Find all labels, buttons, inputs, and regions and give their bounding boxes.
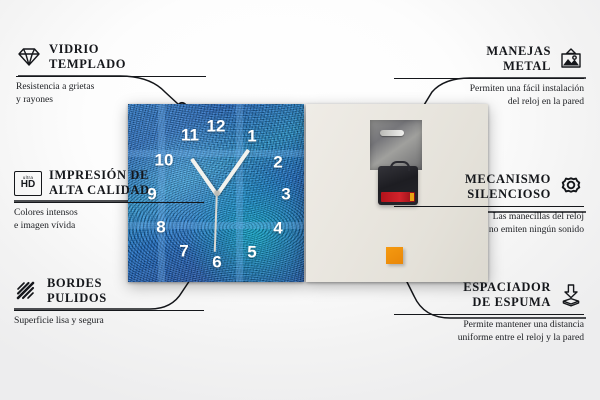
clock-numeral-7: 7 (179, 243, 188, 260)
picture-hanger-icon (558, 47, 584, 71)
callout-title-line2: DE ESPUMA (463, 295, 551, 310)
callout-rule (394, 206, 584, 207)
clock-numeral-10: 10 (155, 152, 174, 169)
clock-numeral-5: 5 (247, 244, 256, 261)
diagonal-lines-icon (14, 279, 40, 303)
callout-espaciador-de-espuma: ESPACIADOR DE ESPUMA Permite mantener un… (394, 280, 584, 344)
callout-title-line2: ALTA CALIDAD (49, 183, 150, 198)
callout-title-line1: ESPACIADOR (463, 280, 551, 295)
callout-desc-line2: e imagen vívida (14, 220, 204, 233)
callout-desc-line2: uniforme entre el reloj y la pared (394, 332, 584, 345)
diamond-icon (16, 45, 42, 69)
callout-title-line1: MANEJAS (486, 44, 551, 59)
callout-mecanismo-silencioso: MECANISMO SILENCIOSO Las manecillas del … (394, 172, 584, 236)
infographic-canvas: 12 1 2 3 4 5 6 7 8 9 10 11 (0, 0, 600, 400)
callout-bordes-pulidos: BORDES PULIDOS Superficie lisa y segura (14, 276, 204, 328)
callout-desc-line2: y rayones (16, 94, 206, 107)
gear-icon (558, 175, 584, 199)
callout-impresion-alta-calidad: ultra HD IMPRESIÓN DE ALTA CALIDAD Color… (14, 168, 204, 232)
grid-line (236, 104, 243, 282)
callout-vidrio-templado: VIDRIO TEMPLADO Resistencia a grietas y … (16, 42, 206, 106)
callout-title-line1: IMPRESIÓN DE (49, 168, 150, 183)
clock-numeral-11: 11 (181, 127, 199, 144)
clock-numeral-6: 6 (212, 254, 221, 271)
ultra-hd-icon: ultra HD (14, 171, 42, 196)
callout-rule (394, 314, 584, 315)
callout-rule (394, 78, 584, 79)
ultra-hd-icon-large-text: HD (21, 180, 35, 191)
clock-numeral-3: 3 (281, 186, 290, 203)
callout-title-line2: TEMPLADO (49, 57, 126, 72)
callout-title-line2: PULIDOS (47, 291, 107, 306)
down-arrow-pad-icon (558, 283, 584, 307)
callout-desc-line1: Permite mantener una distancia (394, 319, 584, 332)
foam-spacer (386, 247, 403, 264)
callout-title-line1: VIDRIO (49, 42, 126, 57)
callout-title-line1: BORDES (47, 276, 107, 291)
callout-manejas-metal: MANEJAS METAL Permiten una fácil instala… (394, 44, 584, 108)
callout-rule (16, 76, 206, 77)
callout-desc-line1: Las manecillas del reloj (394, 211, 584, 224)
clock-center-pivot (215, 191, 220, 196)
clock-numeral-1: 1 (247, 128, 256, 145)
clock-numeral-12: 12 (207, 118, 226, 135)
hanger-slot (380, 130, 404, 136)
callout-desc-line1: Superficie lisa y segura (14, 315, 204, 328)
clock-numeral-4: 4 (273, 220, 282, 237)
callout-title-line2: METAL (486, 59, 551, 74)
callout-desc-line2: del reloj en la pared (394, 96, 584, 109)
callout-desc-line1: Resistencia a grietas (16, 81, 206, 94)
callout-rule (14, 202, 204, 203)
clock-numeral-2: 2 (273, 154, 282, 171)
callout-desc-line1: Permiten una fácil instalación (394, 83, 584, 96)
callout-title-line2: SILENCIOSO (465, 187, 551, 202)
callout-title-line1: MECANISMO (465, 172, 551, 187)
mechanism-hanging-loop (390, 161, 410, 171)
callout-desc-line2: no emiten ningún sonido (394, 224, 584, 237)
callout-desc-line1: Colores intensos (14, 207, 204, 220)
callout-rule (14, 310, 204, 311)
